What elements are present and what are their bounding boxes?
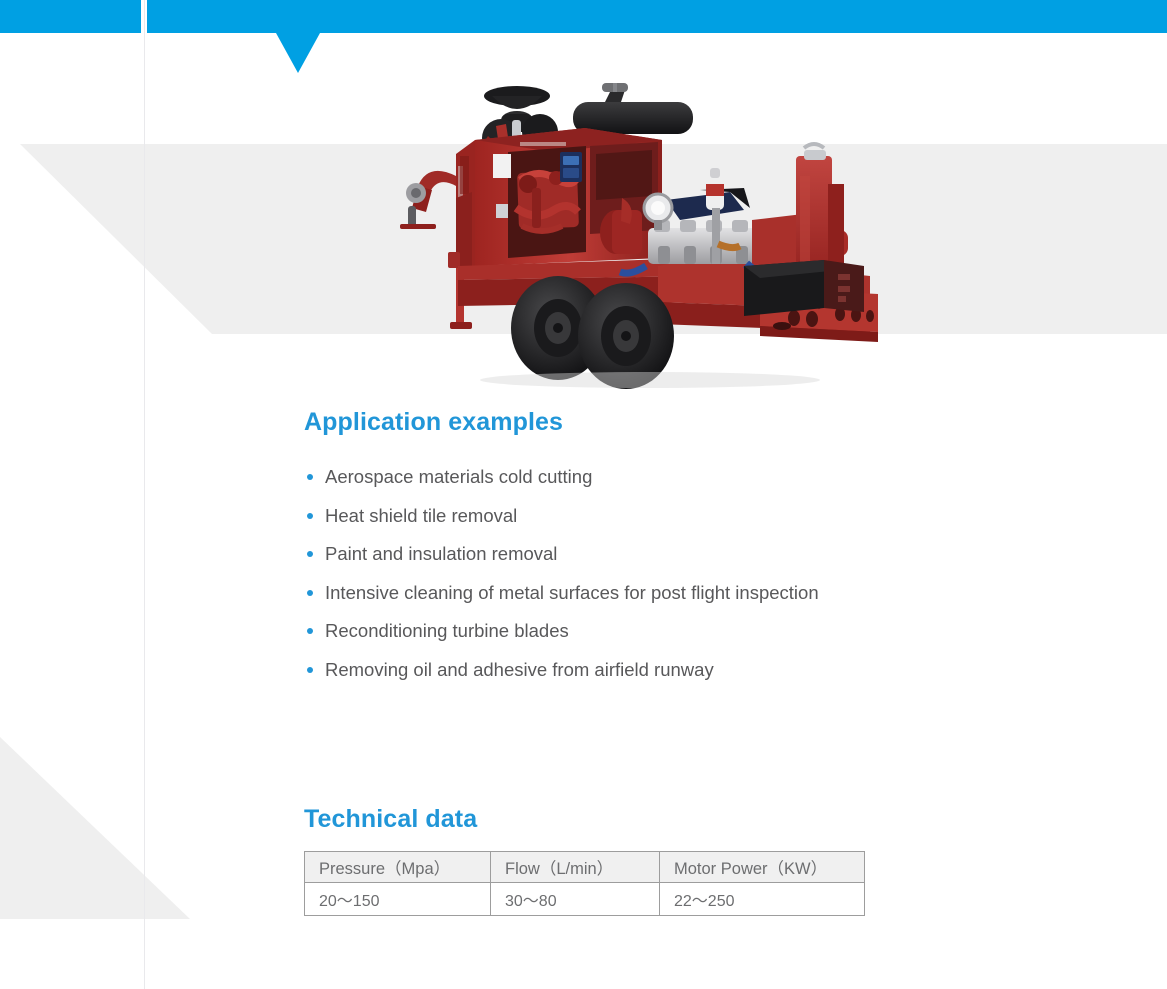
bullet-dot-icon: [307, 667, 313, 673]
technical-data-table: Pressure（Mpa） Flow（L/min） Motor Power（KW…: [304, 851, 865, 916]
bottom-left-grey-wedge: [0, 737, 190, 919]
page-vertical-rule: [144, 0, 145, 989]
control-boxes: [744, 260, 864, 316]
cell-motor-power: 22～250: [660, 883, 865, 916]
bullet-dot-icon: [307, 628, 313, 634]
list-item-label: Paint and insulation removal: [325, 543, 557, 564]
column-header-motor-power: Motor Power（KW）: [660, 852, 865, 883]
list-item: Removing oil and adhesive from airfield …: [304, 651, 819, 690]
list-item: Intensive cleaning of metal surfaces for…: [304, 574, 819, 613]
list-item-label: Reconditioning turbine blades: [325, 620, 569, 641]
table-header-row: Pressure（Mpa） Flow（L/min） Motor Power（KW…: [305, 852, 865, 883]
pump-unit-illustration: [400, 80, 890, 392]
technical-data-heading: Technical data: [304, 805, 477, 834]
top-blue-bar-right: [147, 0, 1167, 33]
product-photo: [400, 80, 890, 392]
list-item-label: Intensive cleaning of metal surfaces for…: [325, 582, 819, 603]
bullet-dot-icon: [307, 513, 313, 519]
bullet-dot-icon: [307, 474, 313, 480]
column-header-pressure: Pressure（Mpa）: [305, 852, 491, 883]
vertical-tank: [796, 144, 844, 278]
top-blue-bar-left: [0, 0, 141, 33]
cell-pressure: 20～150: [305, 883, 491, 916]
cell-flow: 30～80: [491, 883, 660, 916]
bullet-dot-icon: [307, 590, 313, 596]
column-header-flow: Flow（L/min）: [491, 852, 660, 883]
brochure-page: Application examples Aerospace materials…: [0, 0, 1167, 989]
application-examples-list: Aerospace materials cold cutting Heat sh…: [304, 458, 819, 689]
blue-triangle-notch-icon: [276, 33, 320, 73]
bullet-dot-icon: [307, 551, 313, 557]
list-item: Aerospace materials cold cutting: [304, 458, 819, 497]
list-item: Paint and insulation removal: [304, 535, 819, 574]
list-item-label: Aerospace materials cold cutting: [325, 466, 592, 487]
list-item-label: Removing oil and adhesive from airfield …: [325, 659, 714, 680]
list-item: Reconditioning turbine blades: [304, 612, 819, 651]
table-row: 20～150 30～80 22～250: [305, 883, 865, 916]
list-item: Heat shield tile removal: [304, 497, 819, 536]
list-item-label: Heat shield tile removal: [325, 505, 517, 526]
application-examples-heading: Application examples: [304, 408, 563, 437]
